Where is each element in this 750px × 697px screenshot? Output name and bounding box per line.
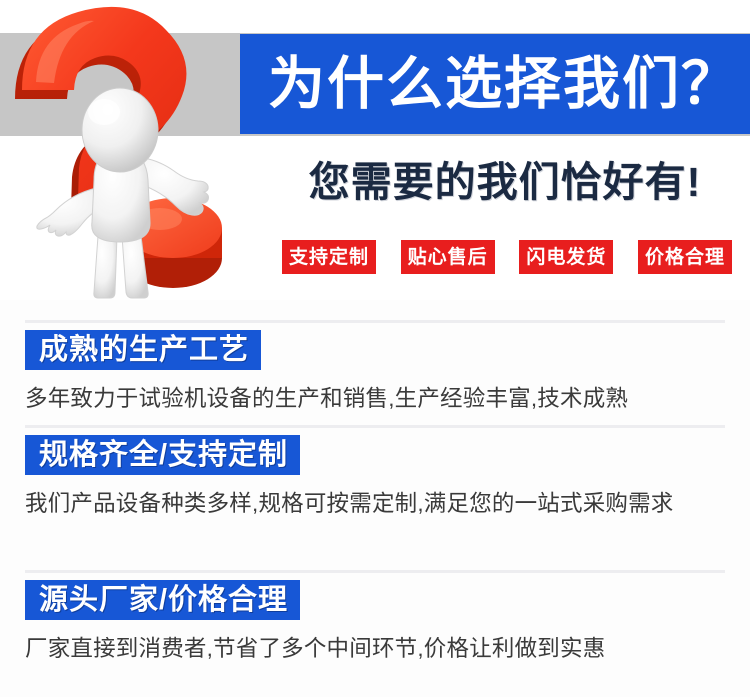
- feature-heading-block: 成熟的生产工艺: [25, 330, 261, 370]
- badge-after-sales: 贴心售后: [401, 240, 495, 274]
- hero-subtitle: 您需要的我们恰好有!: [275, 152, 735, 212]
- badge-fair-price: 价格合理: [638, 240, 732, 274]
- feature-divider: [25, 570, 725, 573]
- feature-heading-block: 源头厂家/价格合理: [25, 580, 300, 620]
- feature-heading-block: 规格齐全/支持定制: [25, 435, 300, 475]
- badge-custom-made: 支持定制: [282, 240, 376, 274]
- page-title: 为什么选择我们？: [268, 45, 738, 123]
- feature-divider: [25, 320, 725, 323]
- feature-divider: [25, 425, 725, 428]
- feature-heading-text: 源头厂家/价格合理: [39, 586, 288, 615]
- feature-body-text: 我们产品设备种类多样,规格可按需定制,满足您的一站式采购需求: [25, 483, 731, 524]
- hero-section: 为什么选择我们？ 您需要的我们恰好有! 支持定制 贴心售后 闪电发货 价格合理: [0, 0, 750, 300]
- feature-badge-row: 支持定制 贴心售后 闪电发货 价格合理: [282, 240, 732, 274]
- feature-heading-text: 规格齐全/支持定制: [39, 441, 288, 470]
- features-section: 成熟的生产工艺 多年致力于试验机设备的生产和销售,生产经验丰富,技术成熟 规格齐…: [0, 300, 750, 697]
- feature-body-text: 多年致力于试验机设备的生产和销售,生产经验丰富,技术成熟: [25, 378, 731, 419]
- why-choose-us-banner: 为什么选择我们？ 您需要的我们恰好有! 支持定制 贴心售后 闪电发货 价格合理: [0, 0, 750, 697]
- feature-heading-text: 成熟的生产工艺: [39, 336, 249, 365]
- question-mark-dot: [124, 198, 222, 288]
- feature-body-text: 厂家直接到消费者,节省了多个中间环节,价格让利做到实惠: [25, 628, 731, 669]
- badge-fast-shipping: 闪电发货: [519, 240, 613, 274]
